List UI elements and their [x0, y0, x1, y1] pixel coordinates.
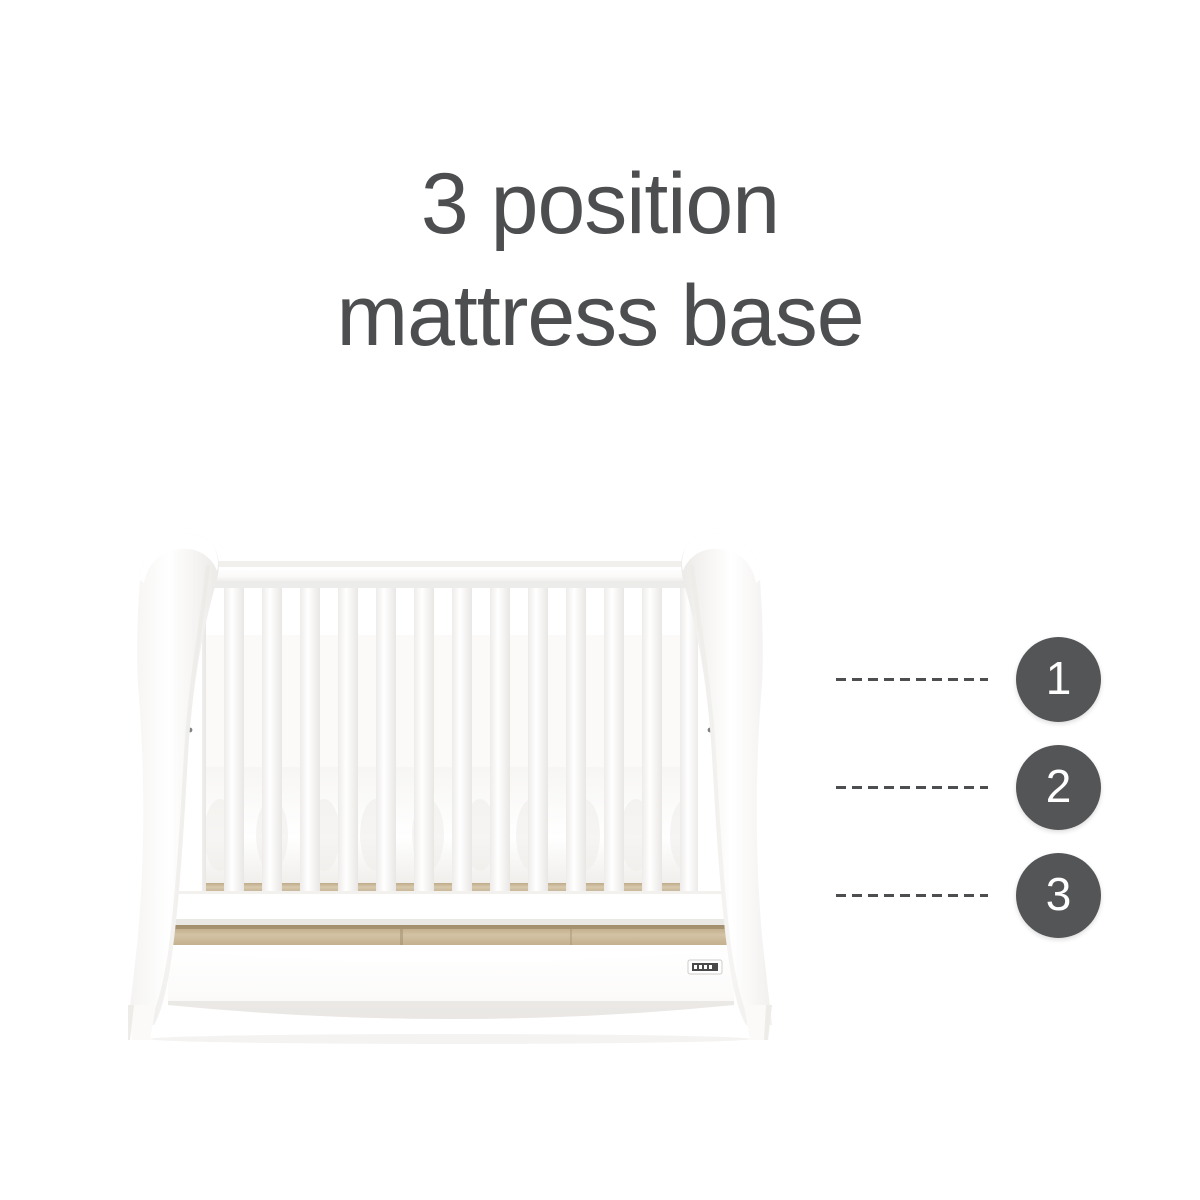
cot-inner-cavity [178, 575, 722, 905]
position-badge-1[interactable]: 1 [1016, 637, 1101, 722]
cot-bed-svg [100, 505, 800, 1045]
product-feature-graphic: 3 position mattress base [0, 0, 1200, 1200]
page-title-line-2: mattress base [0, 260, 1200, 372]
drawer-wood-gap [166, 925, 734, 947]
under-bed-drawer[interactable] [168, 945, 734, 1019]
page-title: 3 position mattress base [0, 148, 1200, 372]
cot-bottom-rail [162, 891, 738, 925]
ground-shadow [150, 1034, 750, 1044]
callout-row-3[interactable]: 3 [820, 850, 1110, 940]
dashed-leader-line-3 [836, 894, 988, 897]
dashed-leader-line-1 [836, 678, 988, 681]
cot-top-rail [164, 561, 736, 588]
dashed-leader-line-2 [836, 786, 988, 789]
page-title-line-1: 3 position [0, 148, 1200, 260]
callout-row-2[interactable]: 2 [820, 742, 1110, 832]
cot-bed-illustration [100, 505, 800, 1045]
position-badge-3[interactable]: 3 [1016, 853, 1101, 938]
mattress-position-callouts: 1 2 3 [820, 620, 1120, 960]
brand-logo-plaque [688, 960, 722, 974]
callout-row-1[interactable]: 1 [820, 634, 1110, 724]
position-badge-2[interactable]: 2 [1016, 745, 1101, 830]
